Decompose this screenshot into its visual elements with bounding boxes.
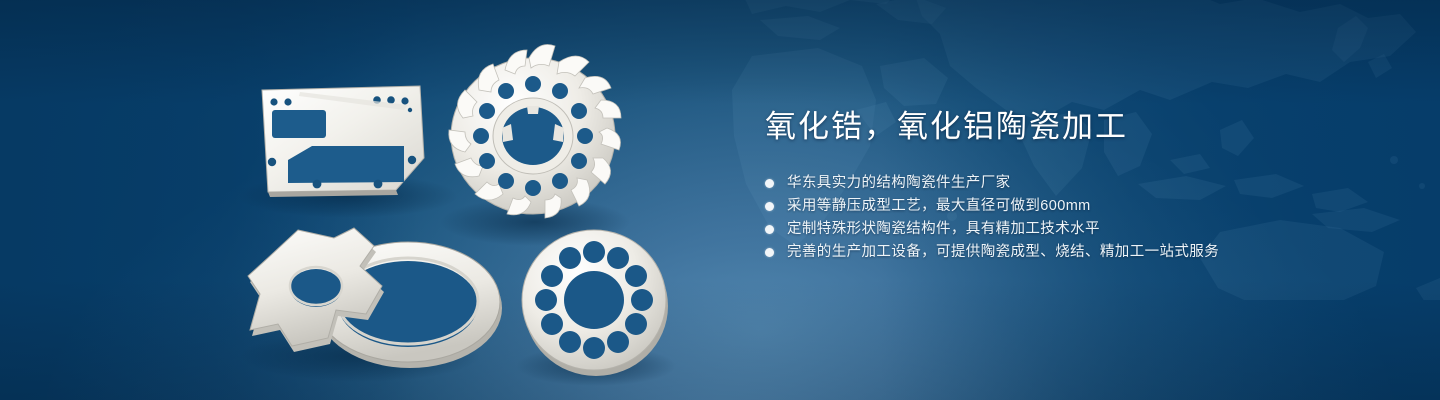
hero-banner: 氧化锆，氧化铝陶瓷加工 华东具实力的结构陶瓷件生产厂家 采用等静压成型工艺，最大… [0, 0, 1440, 400]
bullet-dot-icon [765, 248, 774, 257]
bullet-dot-icon [765, 225, 774, 234]
feature-text: 定制特殊形状陶瓷结构件，具有精加工技术水平 [787, 218, 1100, 240]
feature-text: 采用等静压成型工艺，最大直径可做到600mm [787, 195, 1091, 217]
list-item: 完善的生产加工设备，可提供陶瓷成型、烧结、精加工一站式服务 [765, 241, 1385, 263]
list-item: 华东具实力的结构陶瓷件生产厂家 [765, 172, 1385, 194]
product-photo-group [0, 0, 760, 400]
ceramic-impeller-disc [449, 45, 621, 219]
bullet-dot-icon [765, 202, 774, 211]
feature-list: 华东具实力的结构陶瓷件生产厂家 采用等静压成型工艺，最大直径可做到600mm 定… [765, 172, 1385, 263]
list-item: 采用等静压成型工艺，最大直径可做到600mm [765, 195, 1385, 217]
ceramic-perforated-disc [522, 230, 668, 376]
ceramic-flat-plate [262, 86, 424, 197]
list-item: 定制特殊形状陶瓷结构件，具有精加工技术水平 [765, 218, 1385, 240]
banner-copy: 氧化锆，氧化铝陶瓷加工 华东具实力的结构陶瓷件生产厂家 采用等静压成型工艺，最大… [765, 106, 1385, 264]
page-title: 氧化锆，氧化铝陶瓷加工 [765, 106, 1385, 148]
feature-text: 完善的生产加工设备，可提供陶瓷成型、烧结、精加工一站式服务 [787, 241, 1219, 263]
bullet-dot-icon [765, 179, 774, 188]
feature-text: 华东具实力的结构陶瓷件生产厂家 [787, 172, 1011, 194]
